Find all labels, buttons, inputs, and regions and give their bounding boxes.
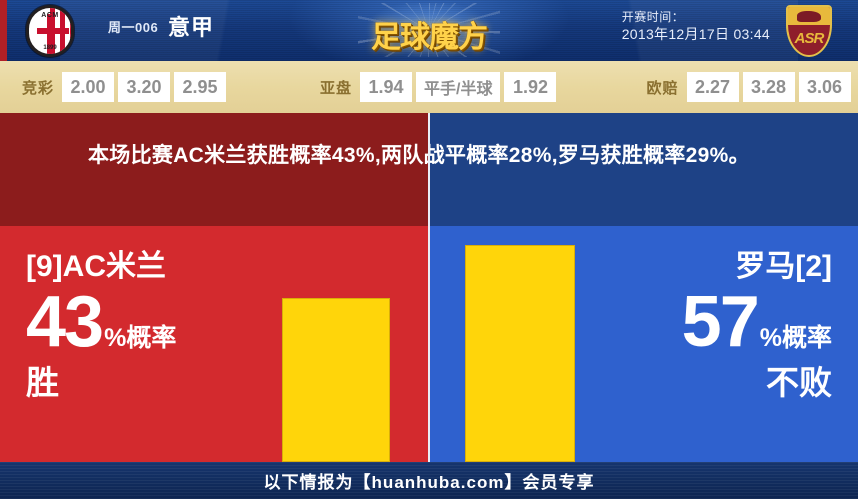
panel-divider [428,113,430,462]
odds-cell-jingcai-1[interactable]: 2.00 [62,72,114,102]
odds-group-oupei: 欧赔 2.27 3.28 3.06 [638,61,854,113]
odds-cell-yapan-1[interactable]: 1.94 [360,72,412,102]
odds-cell-yapan-2[interactable]: 1.92 [504,72,556,102]
roma-wolf-icon [797,11,821,23]
crest-cross-horizontal [37,28,69,34]
brand-logo: 足球魔方 [358,3,500,57]
header-bar: ACM 1899 周一006 意甲 足球魔方 开赛时间： 2013年12月17日… [0,0,858,61]
roma-initials: ASR [788,30,830,47]
kickoff-label: 开赛时间： [622,9,770,25]
odds-label-oupei: 欧赔 [638,77,686,98]
away-team-name: 罗马[2] [682,248,832,286]
crest-year: 1899 [29,45,71,51]
left-red-strip [0,0,7,61]
home-team-block: [9]AC米兰 43 %概率 胜 [26,248,176,404]
kickoff-info: 开赛时间： 2013年12月17日 03:44 [622,9,770,44]
odds-cell-yapan-handicap[interactable]: 平手/半球 [416,72,500,102]
home-percent-suffix: %概率 [104,326,176,351]
summary-text: 本场比赛AC米兰获胜概率43%,两队战平概率28%,罗马获胜概率29%。 [88,139,750,172]
away-percent-value: 57 [682,288,758,356]
footer-bar: 以下情报为【huanhuba.com】会员专享 [0,462,858,499]
ac-milan-crest-icon: ACM 1899 [26,5,74,57]
as-roma-crest-icon: ASR [786,5,832,57]
kickoff-value: 2013年12月17日 03:44 [622,25,770,44]
odds-group-jingcai: 竞彩 2.00 3.20 2.95 [14,61,230,113]
home-percent-value: 43 [26,288,102,356]
away-percent-row: 57 %概率 [682,288,832,356]
home-team-name: [9]AC米兰 [26,248,176,286]
odds-cell-oupei-2[interactable]: 3.28 [743,72,795,102]
odds-label-yapan: 亚盘 [312,77,360,98]
footer-text: 以下情报为【huanhuba.com】会员专享 [264,468,595,493]
away-outcome-label: 不败 [682,362,832,404]
away-team-block: 罗马[2] 57 %概率 不败 [682,248,832,404]
match-number: 周一006 [108,17,158,36]
roma-shield: ASR [786,5,832,57]
odds-cell-oupei-3[interactable]: 3.06 [799,72,851,102]
away-probability-bar [465,245,575,462]
home-outcome-label: 胜 [26,362,176,404]
odds-group-yapan: 亚盘 1.94 平手/半球 1.92 [312,61,560,113]
odds-bar: 竞彩 2.00 3.20 2.95 亚盘 1.94 平手/半球 1.92 欧赔 … [0,61,858,113]
brand-logo-text: 足球魔方 [358,12,500,56]
crest-initials: ACM [29,12,71,19]
home-probability-bar [282,298,390,462]
league-name: 意甲 [168,10,214,42]
match-probability-infographic: ACM 1899 周一006 意甲 足球魔方 开赛时间： 2013年12月17日… [0,0,858,499]
away-percent-suffix: %概率 [760,326,832,351]
odds-label-jingcai: 竞彩 [14,77,62,98]
odds-cell-jingcai-3[interactable]: 2.95 [174,72,226,102]
home-percent-row: 43 %概率 [26,288,176,356]
odds-cell-oupei-1[interactable]: 2.27 [687,72,739,102]
odds-cell-jingcai-2[interactable]: 3.20 [118,72,170,102]
